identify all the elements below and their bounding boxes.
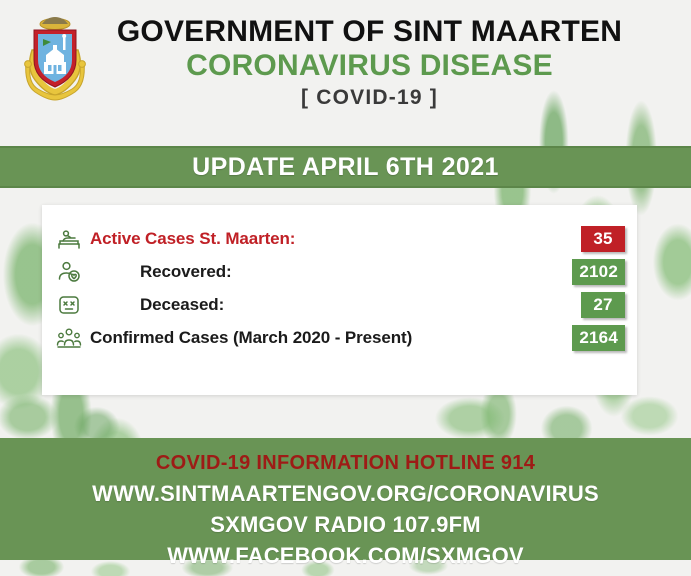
coat-of-arms-icon (22, 12, 88, 104)
covid-subtitle: [ COVID-19 ] (88, 84, 651, 112)
stats-panel-wrapper: Active Cases St. Maarten: 35 (0, 188, 691, 432)
hospital-bed-patient-icon (56, 226, 82, 252)
stats-rows: Active Cases St. Maarten: 35 (42, 205, 637, 354)
stat-label-recovered: Recovered: (82, 262, 555, 282)
stat-label-deceased: Deceased: (82, 295, 555, 315)
stat-value-active-cases: 35 (581, 226, 625, 252)
group-people-icon (56, 325, 82, 351)
header-titles: GOVERNMENT OF SINT MAARTEN CORONAVIRUS D… (88, 0, 691, 113)
stat-row-recovered: Recovered: 2102 (42, 255, 637, 288)
badge-slot-active-cases: 35 (555, 226, 625, 252)
stat-value-recovered: 2102 (572, 259, 625, 285)
badge-slot-recovered: 2102 (555, 259, 625, 285)
stat-row-active-cases: Active Cases St. Maarten: 35 (42, 222, 637, 255)
poster-header: GOVERNMENT OF SINT MAARTEN CORONAVIRUS D… (0, 0, 691, 146)
badge-slot-confirmed-cases: 2164 (555, 325, 625, 351)
hotline-text: COVID-19 INFORMATION HOTLINE 914 (0, 448, 691, 478)
stat-label-confirmed-cases: Confirmed Cases (March 2020 - Present) (82, 328, 555, 348)
website-link[interactable]: WWW.SINTMAARTENGOV.ORG/CORONAVIRUS (0, 478, 691, 509)
facebook-link[interactable]: WWW.FACEBOOK.COM/SXMGOV (0, 540, 691, 571)
covid-update-poster: GOVERNMENT OF SINT MAARTEN CORONAVIRUS D… (0, 0, 691, 576)
stat-label-active-cases: Active Cases St. Maarten: (82, 229, 555, 249)
stats-panel: Active Cases St. Maarten: 35 (42, 205, 637, 395)
badge-slot-deceased: 27 (555, 292, 625, 318)
update-banner-text: UPDATE APRIL 6TH 2021 (192, 153, 499, 182)
government-title: GOVERNMENT OF SINT MAARTEN (88, 16, 651, 48)
person-recovered-heart-icon (56, 259, 82, 285)
stat-row-deceased: Deceased: 27 (42, 288, 637, 321)
stat-row-confirmed-cases: Confirmed Cases (March 2020 - Present) 2… (42, 321, 637, 354)
poster-footer: COVID-19 INFORMATION HOTLINE 914 WWW.SIN… (0, 438, 691, 560)
disease-title: CORONAVIRUS DISEASE (88, 48, 651, 85)
stat-value-confirmed-cases: 2164 (572, 325, 625, 351)
update-banner: UPDATE APRIL 6TH 2021 (0, 146, 691, 188)
stat-value-deceased: 27 (581, 292, 625, 318)
deceased-face-icon (56, 292, 82, 318)
radio-text: SXMGOV RADIO 107.9FM (0, 509, 691, 540)
